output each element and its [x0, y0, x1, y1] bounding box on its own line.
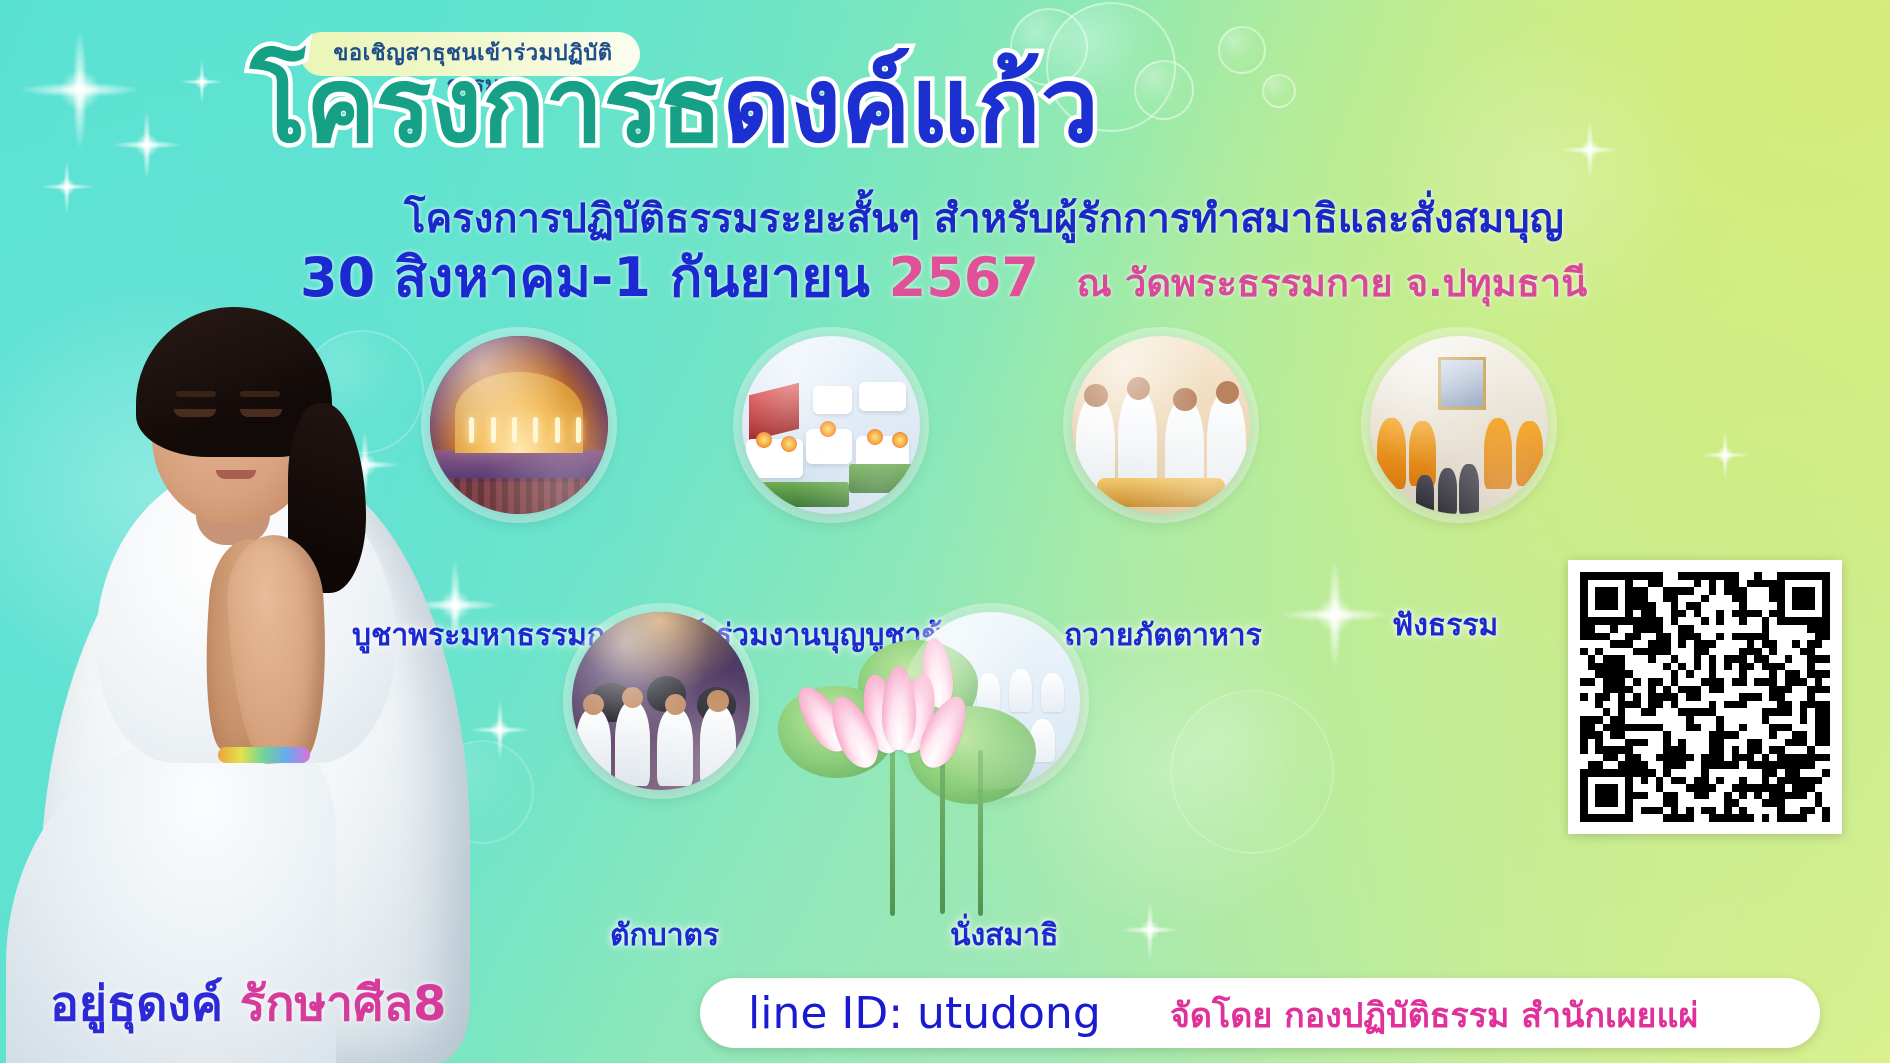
- sparkle: [1700, 430, 1750, 480]
- sparkle: [20, 30, 140, 150]
- sparkle: [180, 60, 224, 104]
- slogan-blue: อยู่ธุดงค์: [50, 976, 223, 1032]
- sparkle: [40, 160, 94, 214]
- qr-code[interactable]: [1568, 560, 1842, 834]
- venue: ณ วัดพระธรรมกาย จ.ปทุมธานี: [1077, 261, 1588, 305]
- sparkle: [350, 800, 410, 860]
- date-main: 30 สิงหาคม-1 กันยายน: [300, 246, 870, 309]
- sparkle: [470, 700, 530, 760]
- bubble-decoration: [430, 740, 534, 844]
- line-id[interactable]: line ID: utudong: [748, 988, 1101, 1040]
- title-part-1: โครงการธ: [250, 44, 723, 166]
- sparkle: [1280, 560, 1390, 670]
- date-year: 2567: [889, 246, 1039, 309]
- glow-blob: [0, 280, 360, 700]
- sparkle: [112, 110, 182, 180]
- bubble-decoration: [1170, 690, 1334, 854]
- activity-photo-dhamma-talk: [1370, 336, 1548, 514]
- activity-caption-4: ตักบาตร: [610, 912, 719, 959]
- date-line: 30 สิงหาคม-1 กันยายน 2567 ณ วัดพระธรรมกา…: [300, 248, 1460, 308]
- activity-photo-chedi: [430, 336, 608, 514]
- poster-root: ขอเชิญสาธุชนเข้าร่วมปฏิบัติธรรม โครงการธ…: [0, 0, 1890, 1063]
- subtitle: โครงการปฏิบัติธรรมระยะสั้นๆ สำหรับผู้รัก…: [404, 196, 1404, 242]
- activity-photo-meditation: [902, 612, 1080, 790]
- activity-photo-food-offering: [1072, 336, 1250, 514]
- activity-photo-offering-hall: [742, 336, 920, 514]
- bubble-decoration: [300, 330, 424, 454]
- activity-photo-alms-round: [572, 612, 750, 790]
- activity-caption-5: นั่งสมาธิ: [950, 912, 1058, 959]
- sparkle: [330, 430, 400, 500]
- sparkle: [1560, 120, 1620, 180]
- activity-caption-2: ถวายภัตตาหาร: [1064, 612, 1262, 659]
- slogan-pink: รักษาศีล8: [240, 976, 447, 1032]
- slogan: อยู่ธุดงค์ รักษาศีล8: [50, 974, 446, 1034]
- page-title: โครงการธดงค์แก้ว: [250, 46, 1370, 164]
- sparkle: [1120, 900, 1180, 960]
- activity-caption-3: ฟังธรรม: [1392, 602, 1498, 649]
- organizer: จัดโดย กองปฏิบัติธรรม สำนักเผยแผ่: [1170, 994, 1698, 1038]
- title-part-2: ดงค์แก้ว: [723, 44, 1099, 166]
